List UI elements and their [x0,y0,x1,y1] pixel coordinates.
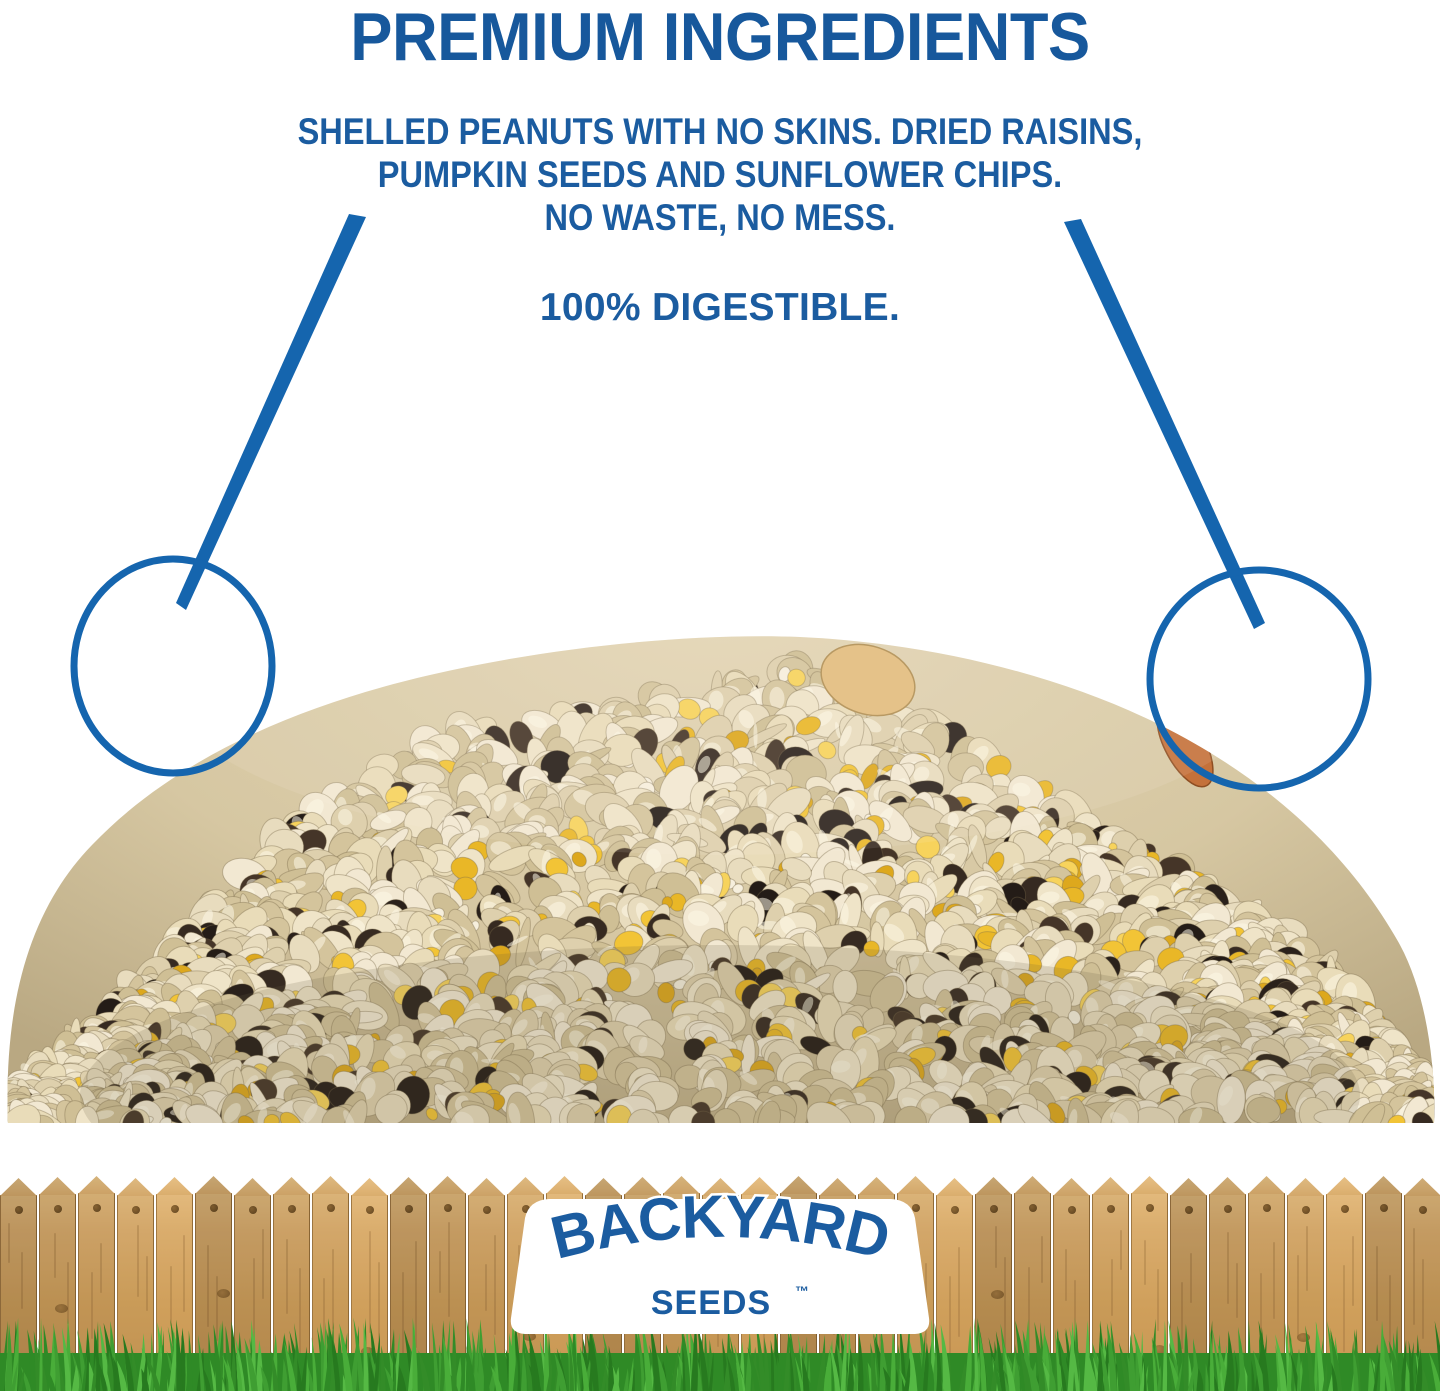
picket-tip [429,1176,466,1194]
picket-nail [54,1205,62,1213]
picket-nail [483,1206,491,1214]
brand-logo[interactable]: BACKYARD SEEDS ™ [505,1192,935,1340]
wood-grain [1190,1253,1192,1303]
picket-tip [0,1178,37,1196]
picket-nail [327,1204,335,1212]
picket-nail [171,1205,179,1213]
picket-nail [210,1204,218,1212]
wood-grain [146,1256,148,1311]
picket-nail [93,1204,101,1212]
wood-grain [8,1223,10,1263]
wood-grain [1065,1249,1067,1301]
digestible-claim: 100% DIGESTIBLE. [0,287,1440,329]
picket-nail [288,1205,296,1213]
wood-grain [137,1225,139,1297]
product-infographic: PREMIUM INGREDIENTS SHELLED PEANUTS WITH… [0,0,1440,1391]
picket-nail [1302,1206,1310,1214]
wood-grain [1144,1240,1146,1285]
subheadline-line-3: NO WASTE, NO MESS. [86,198,1353,238]
picket-tip [195,1176,232,1194]
picket-tip [1092,1177,1129,1195]
picket-tip [1287,1178,1324,1196]
picket-nail [1146,1204,1154,1212]
wood-grain [1413,1228,1415,1325]
wood-grain [1236,1263,1238,1318]
wood-grain [1376,1246,1378,1321]
wood-grain [54,1233,56,1278]
wood-grain [995,1226,997,1268]
picket-tip [1365,1176,1402,1194]
wood-grain [1041,1236,1043,1283]
picket-nail [15,1206,23,1214]
wood-grain [448,1222,450,1317]
picket-nail [366,1206,374,1214]
wood-grain [21,1252,23,1309]
picket-tip [1053,1178,1090,1196]
picket-nail [1341,1205,1349,1213]
picket-tip [390,1177,427,1195]
picket-tip [975,1177,1012,1195]
picket-nail [1068,1206,1076,1214]
seed-mix-photo [0,375,1440,1135]
picket-tip [78,1176,115,1194]
picket-tip [1248,1176,1285,1194]
picket-tip [351,1178,388,1196]
picket-nail [1224,1205,1232,1213]
picket-tip [1014,1176,1051,1194]
picket-tip [468,1178,505,1196]
picket-tip [1170,1178,1207,1196]
picket-nail [1419,1206,1427,1214]
picket-tip [1209,1177,1246,1195]
page-title: PREMIUM INGREDIENTS [50,2,1389,72]
subheadline-line-2: PUMPKIN SEEDS AND SUNFLOWER CHIPS. [86,155,1353,195]
seed-pile-illustration [0,375,1440,1135]
picket-tip [117,1178,154,1196]
wood-grain [485,1264,487,1311]
brand-logo-sign: BACKYARD SEEDS ™ [505,1192,935,1340]
wood-grain [286,1239,288,1314]
wood-grain [262,1229,264,1299]
wood-grain [1352,1236,1354,1306]
picket-nail [444,1204,452,1212]
wood-grain [1120,1230,1122,1270]
brand-trademark: ™ [795,1283,809,1299]
wood-grain [1306,1226,1308,1291]
wood-grain [439,1251,441,1293]
picket-nail [1185,1206,1193,1214]
picket-nail [132,1206,140,1214]
brand-sub: SEEDS [651,1284,771,1322]
wood-knot [55,1304,68,1313]
wood-grain [1273,1242,1275,1319]
picket-tip [39,1177,76,1195]
picket-tip [936,1178,973,1196]
picket-tip [1404,1178,1440,1196]
picket-tip [156,1177,193,1195]
picket-tip [1326,1177,1363,1195]
picket-nail [1263,1204,1271,1212]
picket-tip [234,1178,271,1196]
wood-knot [217,1289,230,1298]
picket-nail [405,1205,413,1213]
picket-nail [1380,1204,1388,1212]
picket-nail [951,1206,959,1214]
wood-grain [1111,1259,1113,1316]
picket-tip [312,1176,349,1194]
picket-nail [249,1206,257,1214]
subheadline-line-1: SHELLED PEANUTS WITH NO SKINS. DRIED RAI… [86,112,1353,152]
wood-knot [991,1290,1004,1299]
picket-tip [1131,1176,1168,1194]
wood-grain [1227,1232,1229,1304]
picket-nail [1029,1204,1037,1212]
wood-grain [183,1235,185,1312]
picket-tip [273,1177,310,1195]
picket-nail [1107,1205,1115,1213]
picket-nail [990,1205,998,1213]
wood-grain [100,1243,102,1293]
